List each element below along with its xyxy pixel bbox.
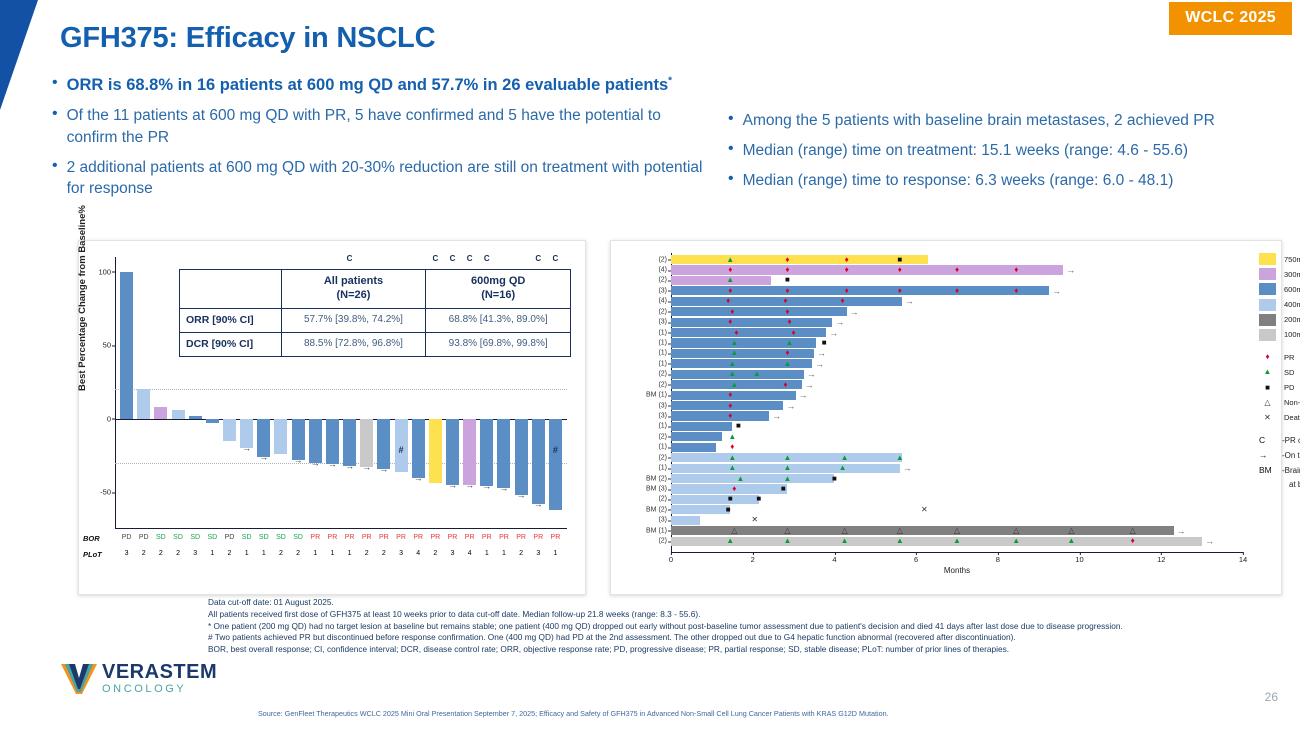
- waterfall-bor-value: PR: [516, 534, 526, 541]
- swimmer-marker-ncnp-icon: △: [1130, 527, 1136, 535]
- swimmer-marker-pr-icon: ♦: [783, 297, 787, 305]
- bullet-item: •2 additional patients at 600 mg QD with…: [52, 157, 712, 199]
- swimmer-marker-pr-icon: ♦: [955, 266, 959, 274]
- waterfall-y-tick: 100: [98, 267, 111, 276]
- on-treatment-arrow-icon: →: [817, 348, 826, 358]
- swimmer-marker-pr-icon: ♦: [785, 308, 789, 316]
- legend-item-dose: 200mg QD: [1259, 314, 1300, 326]
- swimmer-row: (1)▲♦→: [671, 349, 1243, 358]
- swimmer-marker-pr-icon: ♦: [845, 256, 849, 264]
- waterfall-bar: [360, 419, 373, 468]
- on-treatment-arrow-icon: →: [786, 401, 795, 411]
- on-treatment-arrow-icon: →: [1052, 286, 1061, 296]
- waterfall-bor-value: PR: [310, 534, 320, 541]
- swimmer-row-label: (3): [658, 413, 667, 420]
- on-treatment-arrow-icon: →: [517, 491, 526, 500]
- swimmer-marker-sd-icon: ▲: [1012, 537, 1020, 545]
- table-row: DCR [90% CI] 88.5% [72.8%, 96.8%] 93.8% …: [180, 332, 571, 356]
- swimmer-marker-sd-icon: ▲: [730, 339, 738, 347]
- legend-item-dose: 300mg BID: [1259, 268, 1300, 280]
- swimmer-marker-pd-icon: ■: [897, 256, 902, 264]
- swimmer-marker-sd-icon: ▲: [728, 464, 736, 472]
- waterfall-plot-value: 4: [468, 550, 472, 557]
- swimmer-marker-sd-icon: ▲: [896, 454, 904, 462]
- legend-spacer: [1259, 427, 1300, 434]
- waterfall-bor-value: PR: [551, 534, 561, 541]
- swimmer-marker-pr-icon: ♦: [898, 266, 902, 274]
- swimmer-bar: [671, 338, 816, 347]
- swimmer-bar: [671, 349, 814, 358]
- legend-label: -On treatment: [1282, 451, 1300, 460]
- waterfall-bor-value: PR: [448, 534, 458, 541]
- waterfall-bar: [223, 419, 236, 441]
- swimmer-row-label: BM (2): [646, 506, 667, 513]
- waterfall-bor-value: PR: [328, 534, 338, 541]
- swimmer-marker-sd-icon: ▲: [728, 370, 736, 378]
- bullets-right: •Among the 5 patients with baseline brai…: [728, 110, 1288, 200]
- on-treatment-arrow-icon: →: [805, 380, 814, 390]
- swimmer-row: (2)■■: [671, 495, 1243, 504]
- swimmer-marker-sd-icon: ▲: [839, 464, 847, 472]
- waterfall-plot-value: 1: [330, 550, 334, 557]
- waterfall-bor-value: PR: [499, 534, 509, 541]
- waterfall-plot-value: 2: [159, 550, 163, 557]
- legend-item-marker: ♦PR: [1259, 351, 1300, 363]
- swimmer-row: BM (2)▲▲■: [671, 474, 1243, 483]
- swimmer-row: (1)♦: [671, 443, 1243, 452]
- swimmer-bar: [671, 328, 826, 337]
- table-cell-orr-all: 57.7% [39.8%, 74.2%]: [281, 308, 426, 332]
- on-treatment-arrow-icon: →: [414, 474, 423, 483]
- waterfall-plot-value: 2: [228, 550, 232, 557]
- swimmer-row: (2)▲: [671, 432, 1243, 441]
- on-treatment-arrow-icon: →: [379, 465, 388, 474]
- swimmer-marker-sd-icon: ▲: [728, 433, 736, 441]
- swimmer-row-label: (2): [658, 308, 667, 315]
- waterfall-bar: [377, 419, 390, 469]
- swimmer-marker-pd-icon: ■: [736, 422, 741, 430]
- swimmer-plot-panel: (2)▲♦♦■(4)♦♦♦♦♦♦→(2)▲■(3)♦♦♦♦♦♦→(4)♦♦♦→(…: [610, 240, 1282, 595]
- waterfall-plot-value: 3: [193, 550, 197, 557]
- legend-label: 600mg QD: [1284, 285, 1300, 294]
- swimmer-marker-sd-icon: ▲: [841, 537, 849, 545]
- swimmer-row-label: BM (3): [646, 486, 667, 493]
- swimmer-row: (2)♦♦→: [671, 307, 1243, 316]
- swimmer-row: (2)▲♦♦■: [671, 255, 1243, 264]
- swimmer-x-tick: 6: [914, 555, 918, 564]
- swimmer-marker-pr-icon: ♦: [730, 443, 734, 451]
- waterfall-bor-value: PD: [122, 534, 132, 541]
- waterfall-plot-value: 2: [176, 550, 180, 557]
- on-treatment-arrow-icon: →: [1066, 265, 1075, 275]
- page-number: 26: [1265, 690, 1278, 704]
- waterfall-plot-value: 1: [245, 550, 249, 557]
- swimmer-marker-pr-icon: ♦: [728, 391, 732, 399]
- swimmer-x-tick: 10: [1075, 555, 1083, 564]
- waterfall-bar: [137, 389, 150, 418]
- swimmer-marker-pr-icon: ♦: [845, 287, 849, 295]
- hash-footnote-marker: #: [399, 445, 404, 455]
- legend-item-marker: ■PD: [1259, 382, 1300, 394]
- swimmer-marker-sd-icon: ▲: [726, 256, 734, 264]
- swimmer-row-label: (1): [658, 444, 667, 451]
- swimmer-marker-pd-icon: ■: [785, 276, 790, 284]
- waterfall-bar: [446, 419, 459, 485]
- waterfall-y-tick: -50: [100, 488, 111, 497]
- waterfall-plot-value: 3: [125, 550, 129, 557]
- footnotes: Data cut-off date: 01 August 2025.All pa…: [208, 597, 1238, 656]
- waterfall-bor-value: SD: [293, 534, 303, 541]
- legend-item-dose: 750mg QD: [1259, 253, 1300, 265]
- swimmer-row-label: (2): [658, 371, 667, 378]
- bullet-text: 2 additional patients at 600 mg QD with …: [67, 157, 712, 199]
- swimmer-row-label: (1): [658, 423, 667, 430]
- waterfall-bor-value: SD: [173, 534, 183, 541]
- waterfall-bor-value: PR: [430, 534, 440, 541]
- swimmer-row: (1)▲▲▲→: [671, 464, 1243, 473]
- swimmer-row: (3)♦→: [671, 401, 1243, 410]
- legend-color-swatch: [1259, 268, 1276, 280]
- swimmer-marker-pr-icon: ♦: [1131, 537, 1135, 545]
- table-col-header-600: 600mg QD (N=16): [426, 270, 571, 309]
- swimmer-row: (4)♦♦♦→: [671, 297, 1243, 306]
- waterfall-bar: [429, 419, 442, 484]
- swimmer-marker-pr-icon: ♦: [955, 287, 959, 295]
- waterfall-bor-value: PR: [396, 534, 406, 541]
- table-col-header-all: All patients (N=26): [281, 270, 426, 309]
- swimmer-row-label: (1): [658, 340, 667, 347]
- page-title: GFH375: Efficacy in NSCLC: [60, 22, 435, 55]
- legend-code-sublabel: at baseline: [1289, 480, 1300, 489]
- pr-confirmed-marker: C: [347, 254, 353, 263]
- swimmer-marker-pr-icon: ♦: [785, 266, 789, 274]
- waterfall-y-tick: 50: [103, 341, 111, 350]
- swimmer-marker-pr-icon: ♦: [728, 402, 732, 410]
- swimmer-bar: [671, 307, 847, 316]
- swimmer-bar: [671, 505, 730, 514]
- swimmer-marker-sd-icon: ▲: [1067, 537, 1075, 545]
- waterfall-bor-value: SD: [242, 534, 252, 541]
- legend-item-marker: △Non-CR/Non-PD: [1259, 397, 1300, 409]
- legend-item-dose: 600mg QD: [1259, 283, 1300, 295]
- waterfall-plot-value: 3: [451, 550, 455, 557]
- waterfall-bor-value: PR: [413, 534, 423, 541]
- swimmer-row-label: (1): [658, 360, 667, 367]
- on-treatment-arrow-icon: →: [448, 481, 457, 490]
- swimmer-marker-ncnp-icon: △: [954, 527, 960, 535]
- waterfall-bor-value: PR: [465, 534, 475, 541]
- legend-label: 300mg BID: [1284, 270, 1300, 279]
- pr-confirmed-marker: C: [535, 254, 541, 263]
- waterfall-bar: [343, 419, 356, 466]
- legend-label: -Brain metastasis: [1282, 466, 1300, 475]
- logo-name: VERASTEM: [102, 662, 217, 682]
- swimmer-marker-sd-icon: ▲: [728, 360, 736, 368]
- waterfall-bar: [412, 419, 425, 478]
- bullet-item: •Median (range) time on treatment: 15.1 …: [728, 140, 1288, 161]
- swimmer-marker-sd-icon: ▲: [783, 537, 791, 545]
- on-treatment-arrow-icon: →: [903, 463, 912, 473]
- swimmer-marker-pr-icon: ♦: [841, 297, 845, 305]
- swimmer-x-axis-label: Months: [944, 566, 970, 575]
- swimmer-marker-sd-icon: ▲: [783, 464, 791, 472]
- waterfall-bar: [189, 416, 202, 419]
- legend-label: 100mg QD: [1284, 330, 1300, 339]
- bullet-item: •ORR is 68.8% in 16 patients at 600 mg Q…: [52, 74, 712, 96]
- swimmer-row: (3)♦→: [671, 411, 1243, 420]
- legend-label: PR: [1284, 353, 1294, 362]
- footnote-line: All patients received first dose of GFH3…: [208, 609, 1238, 621]
- swimmer-row: BM (3)♦■: [671, 484, 1243, 493]
- legend-item-dose: 100mg QD: [1259, 329, 1300, 341]
- swimmer-marker-sd-icon: ▲: [783, 454, 791, 462]
- legend-color-swatch: [1259, 314, 1276, 326]
- swimmer-x-tick: 0: [669, 555, 673, 564]
- bullet-dot-icon: •: [52, 157, 58, 175]
- waterfall-plot-value: 2: [365, 550, 369, 557]
- on-treatment-arrow-icon: →: [835, 317, 844, 327]
- legend-color-swatch: [1259, 283, 1276, 295]
- swimmer-marker-pd-icon: ■: [756, 495, 761, 503]
- waterfall-bar: [463, 419, 476, 485]
- waterfall-bor-value: PR: [482, 534, 492, 541]
- waterfall-y-axis-label: Best Percentage Change from Baseline%: [77, 205, 88, 391]
- swimmer-marker-pr-icon: ♦: [783, 381, 787, 389]
- swimmer-marker-ncnp-icon: △: [897, 527, 903, 535]
- swimmer-marker-sd-icon: ▲: [896, 537, 904, 545]
- waterfall-row-label-plot: PLoT: [83, 550, 102, 559]
- waterfall-bar: [206, 419, 219, 423]
- swimmer-row: (3)♦♦→: [671, 318, 1243, 327]
- swimmer-bar: [671, 495, 759, 504]
- swimmer-row: BM (1)♦→: [671, 391, 1243, 400]
- waterfall-y-tick: 0: [107, 414, 111, 423]
- swimmer-row-label: (3): [658, 402, 667, 409]
- swimmer-marker-sd-icon: ▲: [730, 381, 738, 389]
- legend-code: →: [1259, 449, 1276, 461]
- swimmer-marker-ncnp-icon: △: [842, 527, 848, 535]
- swimmer-row-label: (1): [658, 329, 667, 336]
- swimmer-x-tick: 12: [1157, 555, 1165, 564]
- on-treatment-arrow-icon: →: [311, 459, 320, 468]
- waterfall-plot-value: 1: [553, 550, 557, 557]
- bullet-text: Of the 11 patients at 600 mg QD with PR,…: [67, 105, 712, 147]
- legend-item-code: →-On treatment: [1259, 449, 1300, 461]
- swimmer-row-label: (2): [658, 381, 667, 388]
- on-treatment-arrow-icon: →: [482, 482, 491, 491]
- swimmer-marker-pr-icon: ♦: [1014, 266, 1018, 274]
- waterfall-chart-panel: Best Percentage Change from Baseline% 10…: [78, 240, 586, 595]
- swimmer-marker-pr-icon: ♦: [726, 297, 730, 305]
- swimmer-marker-pr-icon: ♦: [732, 485, 736, 493]
- swimmer-row: (1)■: [671, 422, 1243, 431]
- waterfall-plot-value: 3: [536, 550, 540, 557]
- conference-badge: WCLC 2025: [1169, 2, 1292, 35]
- footnote-line: Data cut-off date: 01 August 2025.: [208, 597, 1238, 609]
- legend-color-swatch: [1259, 299, 1276, 311]
- footnote-line: * One patient (200 mg QD) had no target …: [208, 621, 1238, 633]
- on-treatment-arrow-icon: →: [1205, 536, 1214, 546]
- swimmer-row-label: BM (2): [646, 475, 667, 482]
- bullets-left: •ORR is 68.8% in 16 patients at 600 mg Q…: [52, 74, 712, 208]
- bullet-dot-icon: •: [52, 105, 58, 123]
- swimmer-bar: [671, 526, 1174, 535]
- bullet-text: Among the 5 patients with baseline brain…: [743, 110, 1215, 131]
- swimmer-marker-sd-icon: ▲: [730, 349, 738, 357]
- swimmer-marker-sd-icon: ▲: [786, 339, 794, 347]
- swimmer-row-label: (2): [658, 454, 667, 461]
- swimmer-bar: [671, 318, 832, 327]
- waterfall-plot-value: 2: [382, 550, 386, 557]
- swimmer-marker-pr-icon: ♦: [728, 412, 732, 420]
- waterfall-bor-value: PD: [139, 534, 149, 541]
- on-treatment-arrow-icon: →: [799, 390, 808, 400]
- swimmer-row: (3)✕: [671, 516, 1243, 525]
- efficacy-table: All patients (N=26) 600mg QD (N=16) ORR …: [179, 269, 571, 357]
- swimmer-row-label: BM (1): [646, 392, 667, 399]
- waterfall-plot-value: 2: [142, 550, 146, 557]
- swimmer-marker-pr-icon: ♦: [785, 287, 789, 295]
- swimmer-marker-pd-icon: ■: [728, 495, 733, 503]
- swimmer-marker-dth-icon: ✕: [921, 506, 928, 514]
- bullet-dot-icon: •: [728, 170, 734, 188]
- bullet-item: •Of the 11 patients at 600 mg QD with PR…: [52, 105, 712, 147]
- swimmer-marker-sd-icon: ▲: [783, 360, 791, 368]
- swimmer-row-label: (3): [658, 319, 667, 326]
- source-citation: Source: GenFleet Therapeutics WCLC 2025 …: [258, 709, 889, 718]
- waterfall-bar: [309, 419, 322, 463]
- company-logo: VERASTEM ONCOLOGY: [60, 662, 217, 696]
- swimmer-marker-sd-icon: ▲: [953, 537, 961, 545]
- pr-confirmed-marker: C: [484, 254, 490, 263]
- legend-marker-icon: ▲: [1259, 366, 1276, 378]
- swimmer-row: (1)♦♦→: [671, 328, 1243, 337]
- chart-legend: 750mg QD300mg BID600mg QD400mg QD200mg Q…: [1259, 253, 1300, 489]
- swimmer-row: (2)▲♦→: [671, 380, 1243, 389]
- waterfall-plot-value: 2: [519, 550, 523, 557]
- table-cell-orr-600: 68.8% [41.3%, 89.0%]: [426, 308, 571, 332]
- pr-confirmed-marker: C: [450, 254, 456, 263]
- on-treatment-arrow-icon: →: [465, 481, 474, 490]
- swimmer-row-label: BM (1): [646, 527, 667, 534]
- swimmer-row: (2)▲■: [671, 276, 1243, 285]
- swimmer-marker-sd-icon: ▲: [736, 475, 744, 483]
- on-treatment-arrow-icon: →: [850, 307, 859, 317]
- legend-label: Non-CR/Non-PD: [1284, 398, 1300, 407]
- bullet-dot-icon: •: [728, 140, 734, 158]
- waterfall-bar: [292, 419, 305, 460]
- waterfall-bor-value: SD: [259, 534, 269, 541]
- swimmer-row: (1)▲▲■: [671, 338, 1243, 347]
- swimmer-marker-ncnp-icon: △: [1068, 527, 1074, 535]
- swimmer-marker-pr-icon: ♦: [785, 349, 789, 357]
- swimmer-bar: [671, 276, 771, 285]
- waterfall-bar: [326, 419, 339, 465]
- on-treatment-arrow-icon: →: [815, 359, 824, 369]
- swimmer-row-label: (2): [658, 277, 667, 284]
- waterfall-row-label-bor: BOR: [83, 534, 100, 543]
- swimmer-marker-pr-icon: ♦: [787, 318, 791, 326]
- on-treatment-arrow-icon: →: [534, 500, 543, 509]
- waterfall-plot-value: 1: [348, 550, 352, 557]
- waterfall-bar: [497, 419, 510, 488]
- swimmer-marker-pr-icon: ♦: [792, 329, 796, 337]
- waterfall-plot-value: 4: [416, 550, 420, 557]
- pr-confirmed-marker: C: [553, 254, 559, 263]
- swimmer-marker-sd-icon: ▲: [783, 475, 791, 483]
- legend-marker-icon: ✕: [1259, 412, 1276, 424]
- waterfall-bar: [532, 419, 545, 504]
- legend-label: -PR confirmed: [1282, 436, 1300, 445]
- swimmer-marker-pr-icon: ♦: [845, 266, 849, 274]
- logo-subtitle: ONCOLOGY: [102, 682, 217, 696]
- waterfall-bor-value: SD: [276, 534, 286, 541]
- bullet-text: Median (range) time to response: 6.3 wee…: [743, 170, 1174, 191]
- waterfall-bar: [549, 419, 562, 510]
- swimmer-row-label: (3): [658, 517, 667, 524]
- swimmer-row-label: (2): [658, 256, 667, 263]
- on-treatment-arrow-icon: →: [259, 453, 268, 462]
- hash-footnote-marker: #: [553, 445, 558, 455]
- swimmer-x-axis: [671, 552, 1243, 553]
- waterfall-bor-value: PR: [362, 534, 372, 541]
- on-treatment-arrow-icon: →: [362, 463, 371, 472]
- legend-item-code: BM-Brain metastasis: [1259, 464, 1300, 476]
- waterfall-bar: [274, 419, 287, 454]
- legend-code: BM: [1259, 464, 1276, 476]
- swimmer-row: BM (2)■✕: [671, 505, 1243, 514]
- waterfall-plot-value: 1: [502, 550, 506, 557]
- legend-code: C: [1259, 434, 1276, 446]
- on-treatment-arrow-icon: →: [345, 462, 354, 471]
- on-treatment-arrow-icon: →: [1177, 526, 1186, 536]
- swimmer-row: BM (1)△△△△△△△△→: [671, 526, 1243, 535]
- waterfall-bor-value: SD: [156, 534, 166, 541]
- swimmer-marker-sd-icon: ▲: [841, 454, 849, 462]
- swimmer-marker-pr-icon: ♦: [734, 329, 738, 337]
- swimmer-row: (3)♦♦♦♦♦♦→: [671, 286, 1243, 295]
- bullet-text: Median (range) time on treatment: 15.1 w…: [743, 140, 1188, 161]
- swimmer-bar: [671, 484, 787, 493]
- swimmer-marker-pr-icon: ♦: [898, 287, 902, 295]
- legend-label: 750mg QD: [1284, 255, 1300, 264]
- legend-label: SD: [1284, 368, 1294, 377]
- waterfall-bar: [120, 272, 133, 419]
- legend-item-marker: ✕Death: [1259, 412, 1300, 424]
- on-treatment-arrow-icon: →: [807, 369, 816, 379]
- swimmer-row-label: (1): [658, 465, 667, 472]
- swimmer-bar: [671, 474, 834, 483]
- legend-marker-icon: ♦: [1259, 351, 1276, 363]
- waterfall-plot-value: 2: [279, 550, 283, 557]
- on-treatment-arrow-icon: →: [242, 444, 251, 453]
- waterfall-bor-value: SD: [190, 534, 200, 541]
- swimmer-marker-pr-icon: ♦: [728, 266, 732, 274]
- swimmer-row-label: (2): [658, 496, 667, 503]
- waterfall-plot-value: 2: [433, 550, 437, 557]
- bullet-item: •Among the 5 patients with baseline brai…: [728, 110, 1288, 131]
- swimmer-bar: [671, 422, 732, 431]
- swimmer-marker-pd-icon: ■: [822, 339, 827, 347]
- on-treatment-arrow-icon: →: [294, 456, 303, 465]
- swimmer-marker-ncnp-icon: △: [731, 527, 737, 535]
- swimmer-marker-pd-icon: ■: [781, 485, 786, 493]
- table-cell-dcr-all: 88.5% [72.8%, 96.8%]: [281, 332, 426, 356]
- waterfall-bor-value: SD: [207, 534, 217, 541]
- table-row: ORR [90% CI] 57.7% [39.8%, 74.2%] 68.8% …: [180, 308, 571, 332]
- swimmer-marker-sd-icon: ▲: [753, 370, 761, 378]
- swimmer-marker-dth-icon: ✕: [751, 516, 758, 524]
